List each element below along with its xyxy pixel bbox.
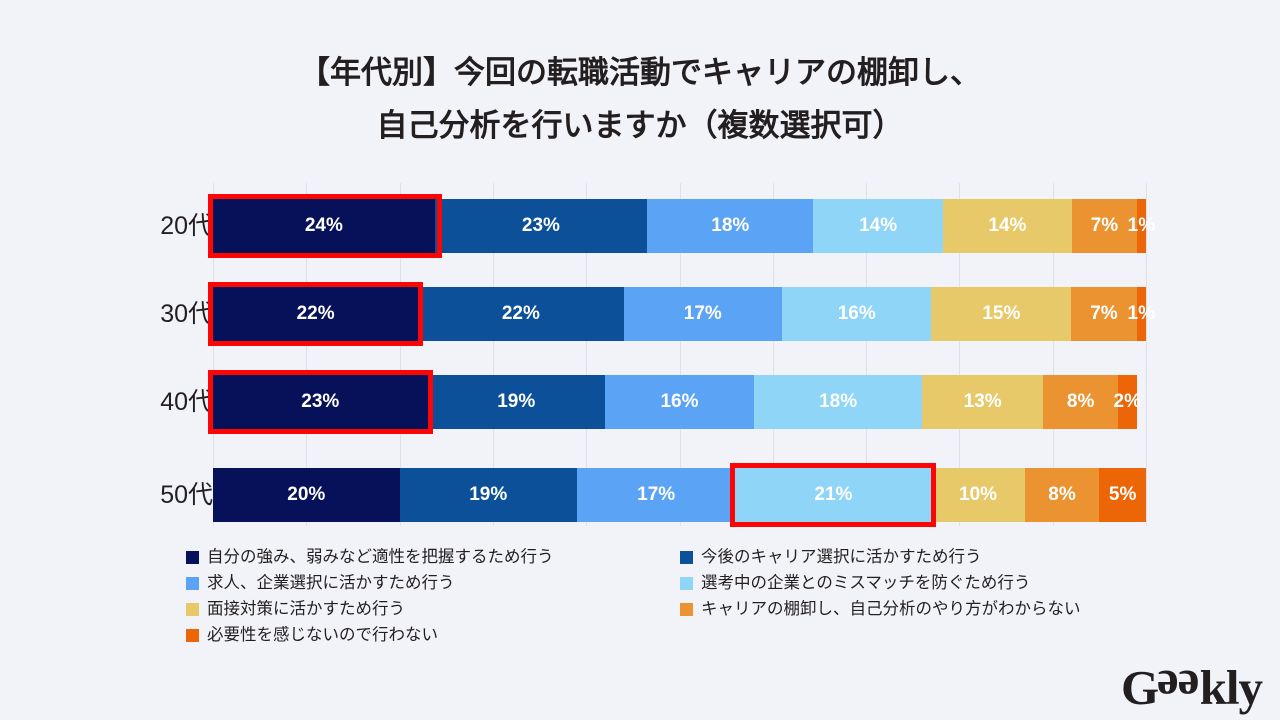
legend-color-swatch — [186, 629, 199, 642]
bar-segment-value: 7% — [1090, 303, 1117, 325]
legend-item[interactable]: 必要性を感じないので行わない — [186, 627, 438, 644]
bar-segment-value: 2% — [1114, 391, 1141, 413]
bar-segment[interactable]: 10% — [931, 468, 1024, 522]
legend-row: 自分の強み、弱みなど適性を把握するため行う今後のキャリア選択に活かすため行う — [186, 549, 1146, 575]
geekly-logo: G ee kly — [1121, 663, 1262, 712]
legend-color-swatch — [186, 551, 199, 564]
bar-segment-value: 1% — [1128, 303, 1155, 325]
bar-segment[interactable]: 23% — [435, 199, 647, 253]
bar-segment[interactable]: 17% — [577, 468, 736, 522]
logo-text-ee: ee — [1158, 663, 1200, 712]
bar-segment-value: 8% — [1048, 484, 1075, 506]
bar-segment[interactable]: 19% — [428, 375, 605, 429]
bar-segment-value: 24% — [305, 215, 343, 237]
bar-segment-value: 16% — [838, 303, 876, 325]
plot-area: 24%23%18%14%14%7%1%22%22%17%16%15%7%1%23… — [213, 183, 1146, 526]
bar-segment[interactable]: 17% — [624, 287, 783, 341]
chart-legend: 自分の強み、弱みなど適性を把握するため行う今後のキャリア選択に活かすため行う求人… — [186, 549, 1146, 653]
legend-color-swatch — [186, 577, 199, 590]
page-title-line1: 【年代別】今回の転職活動でキャリアの棚卸し、 — [299, 55, 981, 90]
legend-row: 求人、企業選択に活かすため行う選考中の企業とのミスマッチを防ぐため行う — [186, 575, 1146, 601]
bar-segment[interactable]: 19% — [400, 468, 577, 522]
legend-label: 必要性を感じないので行わない — [207, 627, 438, 644]
legend-color-swatch — [680, 603, 693, 616]
bar-segment[interactable]: 2% — [1118, 375, 1137, 429]
y-axis-label-30代: 30代 — [123, 294, 213, 330]
bar-rows: 24%23%18%14%14%7%1%22%22%17%16%15%7%1%23… — [213, 183, 1146, 526]
bar-segment-value: 15% — [982, 303, 1020, 325]
bar-segment-value: 18% — [711, 215, 749, 237]
bar-segment-value: 8% — [1067, 391, 1094, 413]
bar-segment[interactable]: 16% — [605, 375, 754, 429]
bar-row-20代: 24%23%18%14%14%7%1% — [213, 199, 1146, 253]
legend-color-swatch — [680, 577, 693, 590]
legend-label: キャリアの棚卸し、自己分析のやり方がわからない — [701, 601, 1081, 618]
bar-segment-value: 19% — [469, 484, 507, 506]
bar-segment[interactable]: 18% — [754, 375, 922, 429]
chart-page: 【年代別】今回の転職活動でキャリアの棚卸し、 自己分析を行いますか（複数選択可）… — [0, 0, 1280, 720]
bar-segment-value: 22% — [297, 303, 335, 325]
legend-label: 選考中の企業とのミスマッチを防ぐため行う — [701, 575, 1030, 592]
bar-segment-value: 18% — [819, 391, 857, 413]
bar-segment-value: 23% — [301, 391, 339, 413]
bar-segment-value: 17% — [637, 484, 675, 506]
bar-segment[interactable]: 23% — [213, 375, 428, 429]
legend-item[interactable]: キャリアの棚卸し、自己分析のやり方がわからない — [680, 601, 1081, 618]
bar-segment-value: 21% — [814, 484, 852, 506]
bar-segment[interactable]: 18% — [647, 199, 813, 253]
bar-segment-value: 17% — [684, 303, 722, 325]
bar-segment[interactable]: 1% — [1137, 199, 1146, 253]
legend-label: 面接対策に活かすため行う — [207, 601, 405, 618]
legend-item[interactable]: 今後のキャリア選択に活かすため行う — [680, 549, 982, 566]
legend-label: 今後のキャリア選択に活かすため行う — [701, 549, 982, 566]
bar-segment[interactable]: 8% — [1043, 375, 1118, 429]
logo-text-post: kly — [1200, 663, 1262, 712]
bar-segment[interactable]: 14% — [943, 199, 1072, 253]
y-axis-label-40代: 40代 — [123, 382, 213, 418]
bar-segment-value: 19% — [497, 391, 535, 413]
legend-item[interactable]: 選考中の企業とのミスマッチを防ぐため行う — [680, 575, 1030, 592]
bar-segment[interactable]: 22% — [213, 287, 418, 341]
bar-segment-value: 23% — [522, 215, 560, 237]
bar-segment[interactable]: 13% — [922, 375, 1043, 429]
bar-segment-value: 14% — [859, 215, 897, 237]
legend-item[interactable]: 自分の強み、弱みなど適性を把握するため行う — [186, 549, 554, 566]
bar-segment-value: 5% — [1109, 484, 1136, 506]
bar-segment[interactable]: 21% — [735, 468, 931, 522]
legend-color-swatch — [680, 551, 693, 564]
legend-label: 求人、企業選択に活かすため行う — [207, 575, 455, 592]
bar-segment[interactable]: 5% — [1099, 468, 1146, 522]
bar-segment[interactable]: 15% — [931, 287, 1071, 341]
bar-segment[interactable]: 24% — [213, 199, 435, 253]
bar-segment[interactable]: 1% — [1137, 287, 1146, 341]
bar-row-30代: 22%22%17%16%15%7%1% — [213, 287, 1146, 341]
legend-label: 自分の強み、弱みなど適性を把握するため行う — [207, 549, 554, 566]
bar-segment[interactable]: 22% — [418, 287, 623, 341]
logo-text-pre: G — [1121, 663, 1158, 712]
bar-segment[interactable]: 16% — [782, 287, 931, 341]
y-axis-label-20代: 20代 — [123, 206, 213, 242]
bar-segment[interactable]: 14% — [813, 199, 942, 253]
bar-row-40代: 23%19%16%18%13%8%2% — [213, 375, 1146, 429]
legend-color-swatch — [186, 603, 199, 616]
bar-segment-value: 7% — [1091, 215, 1118, 237]
bar-row-50代: 20%19%17%21%10%8%5% — [213, 468, 1146, 522]
bar-segment-value: 14% — [988, 215, 1026, 237]
bar-segment-value: 22% — [502, 303, 540, 325]
bar-segment-value: 13% — [964, 391, 1002, 413]
legend-row: 必要性を感じないので行わない — [186, 627, 1146, 653]
legend-item[interactable]: 求人、企業選択に活かすため行う — [186, 575, 455, 592]
legend-row: 面接対策に活かすため行うキャリアの棚卸し、自己分析のやり方がわからない — [186, 601, 1146, 627]
bar-segment[interactable]: 20% — [213, 468, 400, 522]
page-title: 【年代別】今回の転職活動でキャリアの棚卸し、 自己分析を行いますか（複数選択可） — [0, 46, 1280, 153]
bar-segment-value: 16% — [660, 391, 698, 413]
y-axis-label-50代: 50代 — [123, 475, 213, 511]
bar-segment[interactable]: 8% — [1025, 468, 1100, 522]
page-title-line2: 自己分析を行いますか（複数選択可） — [0, 99, 1280, 152]
bar-segment-value: 10% — [959, 484, 997, 506]
legend-item[interactable]: 面接対策に活かすため行う — [186, 601, 405, 618]
bar-segment-value: 1% — [1128, 215, 1155, 237]
bar-segment-value: 20% — [287, 484, 325, 506]
